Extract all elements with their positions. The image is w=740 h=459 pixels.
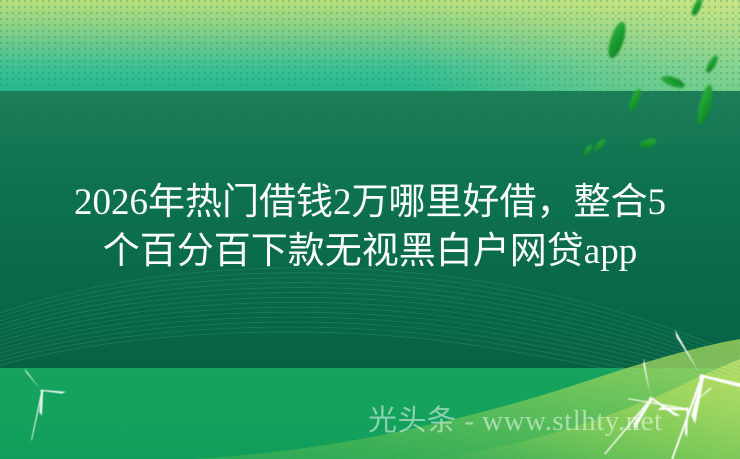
watermark: 光头条 - www.stlhty.net bbox=[368, 404, 663, 438]
page-title: 2026年热门借钱2万哪里好借，整合5 个百分百下款无视黑白户网贷app bbox=[0, 178, 740, 276]
promo-banner: 2026年热门借钱2万哪里好借，整合5 个百分百下款无视黑白户网贷app 光头条… bbox=[0, 0, 740, 459]
